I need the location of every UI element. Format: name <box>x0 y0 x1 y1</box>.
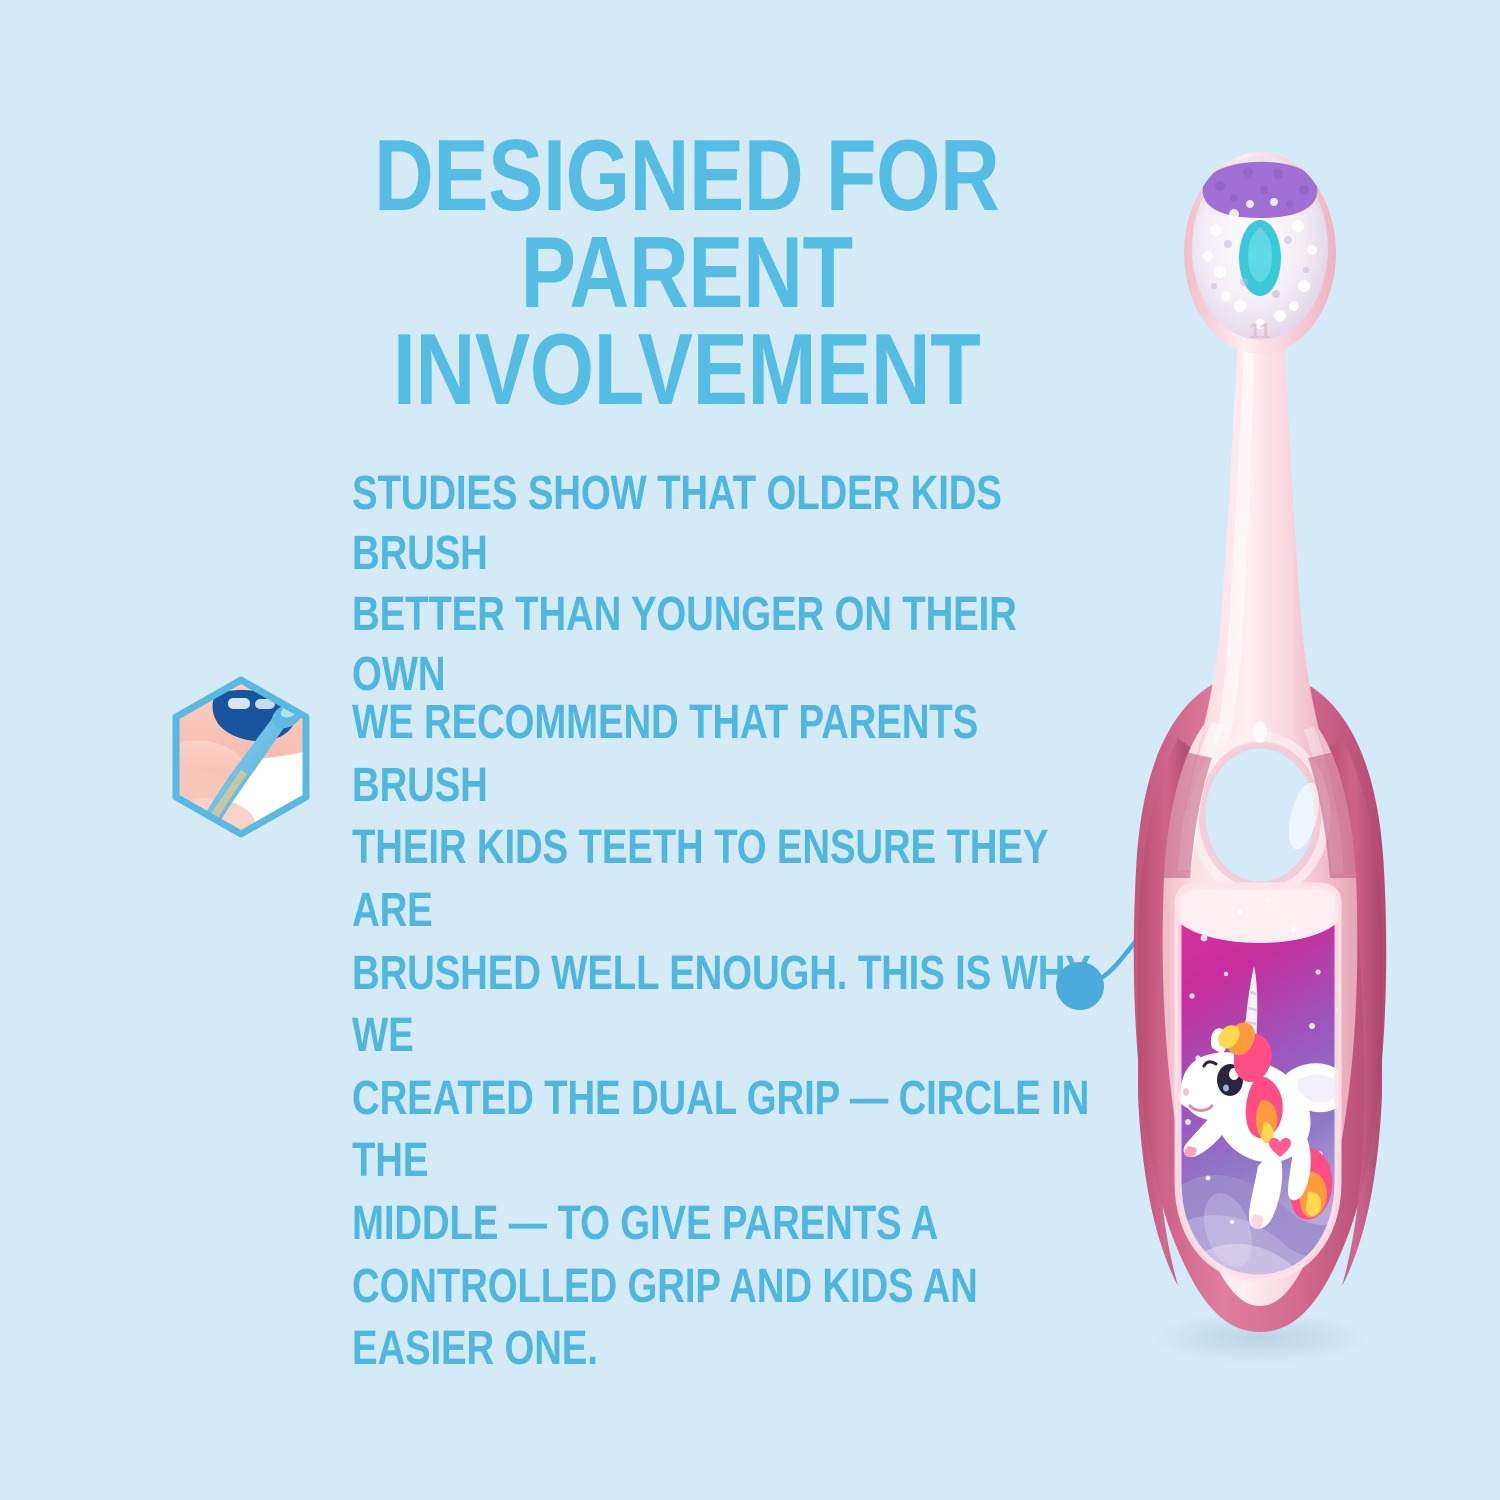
page-title: DESIGNED FOR PARENT INVOLVEMENT <box>330 128 1043 419</box>
unicorn-sticker-panel <box>1168 886 1349 1290</box>
callout-dot <box>1056 962 1104 1010</box>
infographic-canvas: DESIGNED FOR PARENT INVOLVEMENT STUDIES … <box>0 0 1500 1500</box>
hand-brushing-teeth-icon <box>165 676 317 838</box>
product-image-toothbrush: 11 <box>1108 110 1418 1400</box>
bristles <box>1192 156 1328 340</box>
body-paragraph: WE RECOMMEND THAT PARENTS BRUSH THEIR KI… <box>352 692 1104 1381</box>
head-marking-label: 11 <box>1249 320 1272 343</box>
subheading-text: STUDIES SHOW THAT OLDER KIDS BRUSH BETTE… <box>352 464 1120 706</box>
